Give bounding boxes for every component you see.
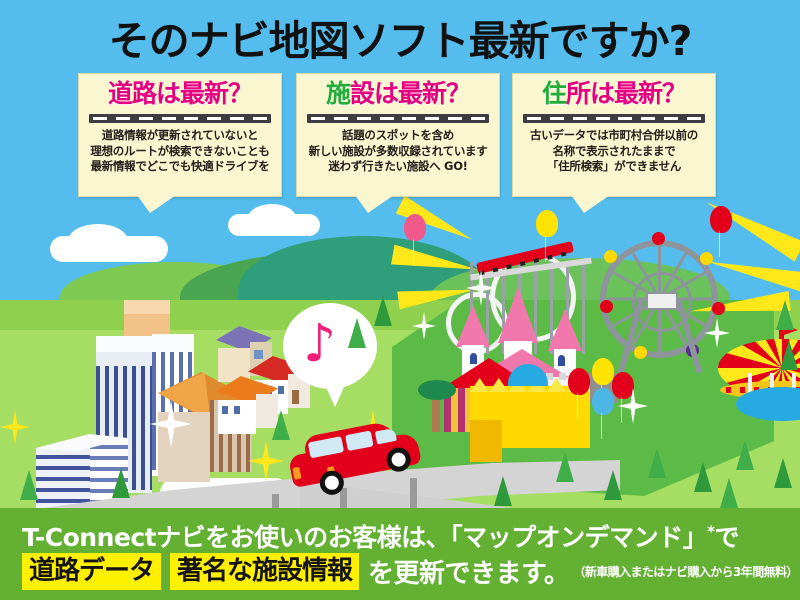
footer-line-2: 道路データ 著名な施設情報 を更新できます。 （新車購入またはナビ購入から3年間… xyxy=(22,553,798,590)
balloon-red-top xyxy=(710,206,732,233)
tower-roof-box-top xyxy=(124,300,170,314)
ph-front xyxy=(218,348,250,382)
palm-fronds xyxy=(418,380,456,400)
ferris-car-6 xyxy=(600,300,613,313)
ferris-car-2 xyxy=(700,252,713,265)
tower-top xyxy=(96,336,194,352)
panel-road: 道路は最新？ 道路情報が更新されていないと 理想のルートが検索できないことも 最… xyxy=(78,73,282,197)
panel-address-line-3: 「住所検索」ができません xyxy=(519,159,709,175)
panel-facility-tail xyxy=(355,195,394,213)
panel-facility: 施設は最新？ 話題のスポットを含め 新しい施設が多数収録されています 迷わず行き… xyxy=(296,73,500,197)
ph-window xyxy=(254,350,263,359)
castle-turret-right xyxy=(548,309,582,351)
footer-line-1: T-Connectナビをお使いのお客様は、「マップオンデマンド」*で xyxy=(22,518,739,554)
tree-15 xyxy=(780,340,798,370)
ferris-car-3 xyxy=(712,302,725,315)
oh-windows xyxy=(222,406,244,414)
panel-facility-heading: 施設は最新？ xyxy=(303,79,493,109)
tree-12 xyxy=(720,478,738,508)
panel-address-body: 古いデータでは市町村合併以前の 名称で表示されたままで 「住所検索」ができません xyxy=(519,128,709,175)
tree-4 xyxy=(112,468,130,498)
balloon-cluster-red1 xyxy=(568,368,590,395)
panel-facility-body: 話題のスポットを含め 新しい施設が多数収録されています 迷わず行きたい施設へ G… xyxy=(303,128,493,175)
castle-window-a xyxy=(470,353,477,364)
panel-address-tail xyxy=(571,195,610,213)
tree-14 xyxy=(776,300,794,330)
footer-line-2-tail: を更新できます。 xyxy=(368,553,569,590)
footer-banner: T-Connectナビをお使いのお客様は、「マップオンデマンド」*で 道路データ… xyxy=(0,508,800,600)
castle-window-b xyxy=(558,355,565,366)
ferris-hub xyxy=(646,292,678,310)
panel-road-body: 道路情報が更新されていないと 理想のルートが検索できないことも 最新情報でどこで… xyxy=(85,128,275,175)
panel-road-heading-text: 道路は最新？ xyxy=(108,79,252,108)
tree-5 xyxy=(20,470,38,500)
balloon-cluster-blue xyxy=(592,388,614,415)
cloud-1b xyxy=(68,224,128,258)
panel-address-line-1: 古いデータでは市町村合併以前の xyxy=(519,128,709,144)
balloon-cluster-yellow xyxy=(592,358,614,385)
panel-road-line-3: 最新情報でどこでも快適ドライブを xyxy=(85,159,275,175)
ferris-car-5 xyxy=(634,346,647,359)
panel-road-line-1: 道路情報が更新されていないと xyxy=(85,128,275,144)
tree-3 xyxy=(272,410,290,440)
tree-2 xyxy=(374,296,392,326)
road-divider-icon-3 xyxy=(523,114,705,123)
panel-facility-heading-part-2: 設は最新？ xyxy=(350,79,470,108)
road-divider-icon-2 xyxy=(307,114,489,123)
poster-root: ♪ xyxy=(0,0,800,600)
footer-brand: T-Connect xyxy=(22,523,156,552)
panel-road-line-2: 理想のルートが検索できないことも xyxy=(85,144,275,160)
tree-6 xyxy=(556,452,574,482)
panel-address-line-2: 名称で表示されたままで xyxy=(519,144,709,160)
cloud-2b xyxy=(248,204,296,232)
tree-13 xyxy=(494,476,512,506)
balloon-yellow xyxy=(536,210,558,237)
footer-fine-print: （新車購入またはナビ購入から3年間無料） xyxy=(573,563,797,580)
tree-10 xyxy=(736,440,754,470)
panel-address-heading: 住所は最新？ xyxy=(519,79,709,109)
balloon-pink xyxy=(404,214,426,241)
rh-door xyxy=(292,390,299,404)
panel-address-heading-part-1: 住 xyxy=(542,79,566,108)
panel-facility-line-1: 話題のスポットを含め xyxy=(303,128,493,144)
tree-11 xyxy=(774,458,792,488)
panel-facility-heading-part-1: 施 xyxy=(326,79,350,108)
road-divider-icon xyxy=(89,114,271,123)
benefit-panels: 道路は最新？ 道路情報が更新されていないと 理想のルートが検索できないことも 最… xyxy=(0,73,800,203)
footer-line-1-suffix: で xyxy=(714,523,739,552)
balloon-cluster-red2 xyxy=(612,372,634,399)
music-bubble-tail xyxy=(325,385,345,407)
music-note-icon: ♪ xyxy=(303,318,336,370)
panel-address: 住所は最新？ 古いデータでは市町村合併以前の 名称で表示されたままで 「住所検索… xyxy=(512,73,716,197)
tree-7 xyxy=(604,470,622,500)
ferris-car-1 xyxy=(652,232,665,245)
footer-line-1-text: ナビをお使いのお客様は、「マップオンデマンド」 xyxy=(156,523,707,552)
badge-road-data: 道路データ xyxy=(22,553,161,590)
panel-address-heading-part-2: 所は最新？ xyxy=(566,79,686,108)
page-title: そのナビ地図ソフト最新ですか? xyxy=(0,8,800,66)
tree-1 xyxy=(348,318,366,348)
badge-facility-info: 著名な施設情報 xyxy=(170,553,359,590)
panel-facility-line-3: 迷わず行きたい施設へ GO! xyxy=(303,159,493,175)
tree-8 xyxy=(648,448,666,478)
yellow-structure-shadow xyxy=(470,420,502,462)
castle-turret-center xyxy=(498,287,538,343)
ferris-car-7 xyxy=(604,250,617,263)
panel-facility-line-2: 新しい施設が多数収録されています xyxy=(303,144,493,160)
panel-road-tail xyxy=(137,195,176,213)
castle-turret-left xyxy=(456,305,490,347)
tree-9 xyxy=(694,462,712,492)
panel-road-heading: 道路は最新？ xyxy=(85,79,275,109)
